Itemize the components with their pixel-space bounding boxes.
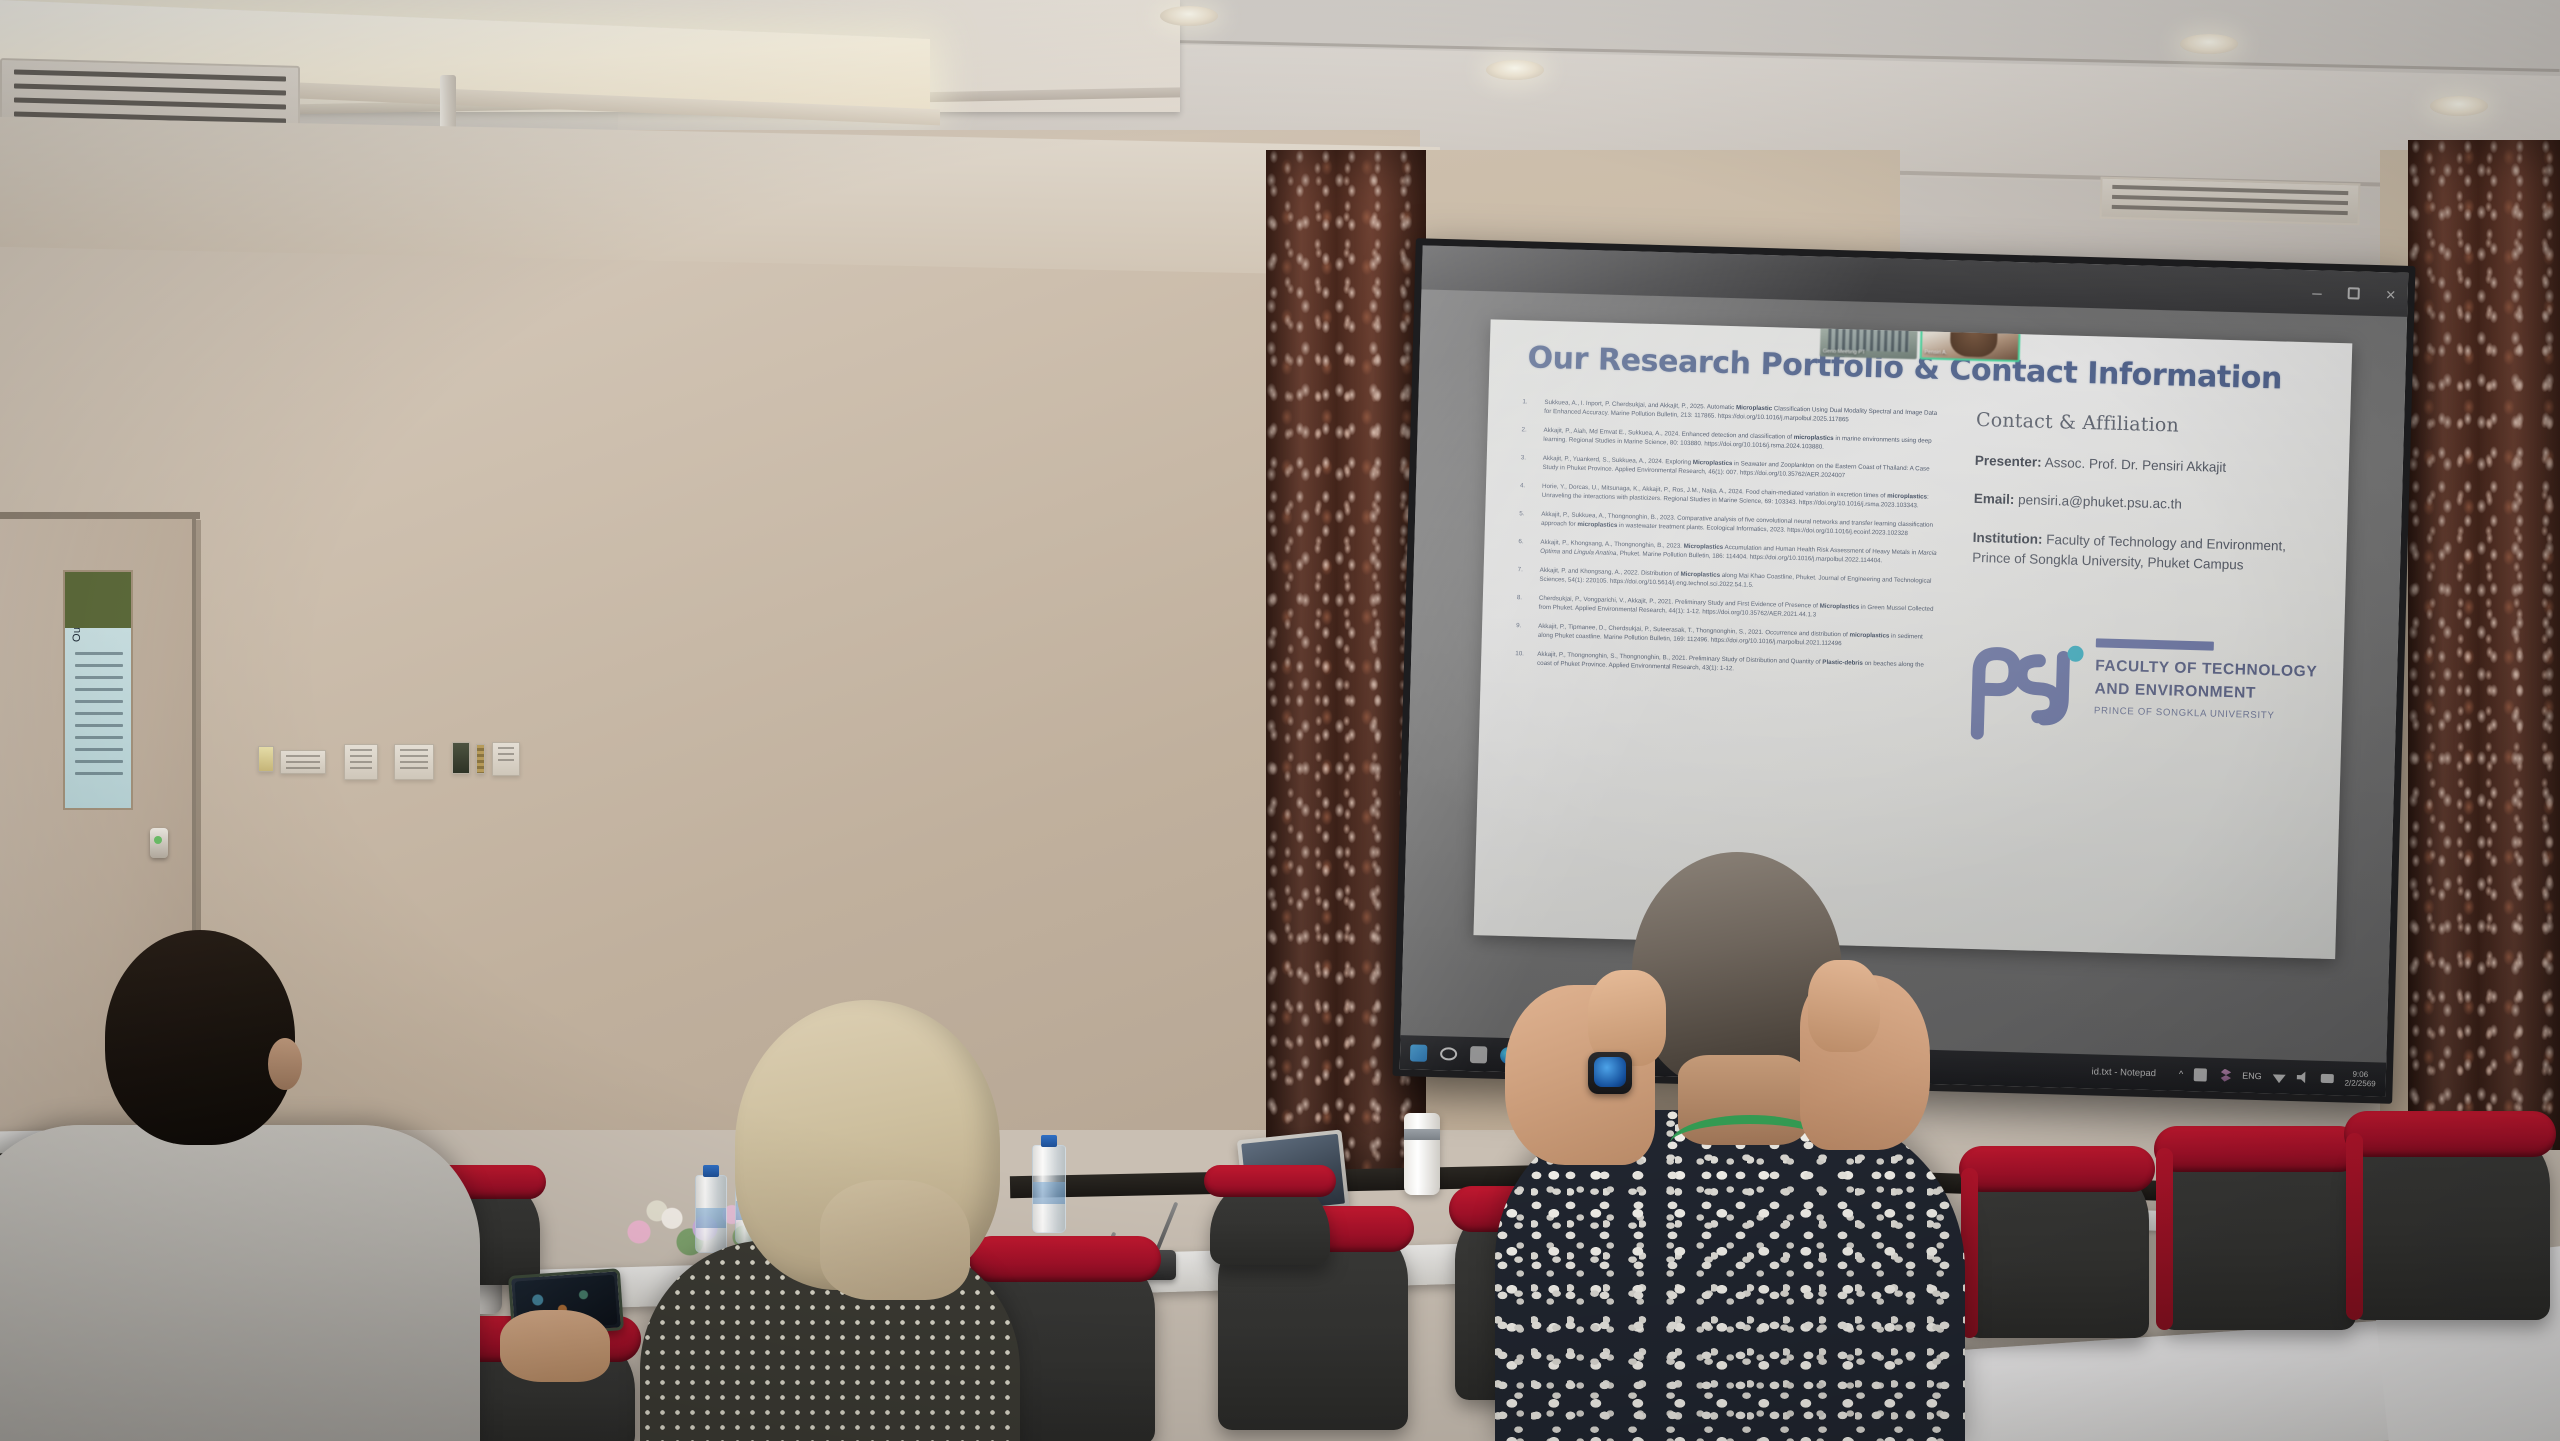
chair-headrest	[2344, 1111, 2556, 1157]
reference-number: 1.	[1522, 398, 1534, 416]
reference-text: Cherdsukjai, P., Vongparichi, V., Akkaji…	[1538, 595, 1936, 624]
chair-headrest	[1959, 1146, 2155, 1192]
clock-time: 9:06	[2352, 1069, 2368, 1078]
downlight-4	[2430, 96, 2488, 116]
institution-line: Institution: Faculty of Technology and E…	[1972, 527, 2323, 577]
maximize-icon[interactable]	[2348, 285, 2360, 302]
watch-face	[1594, 1057, 1626, 1087]
reference-text: Akkajit, P., Khongsang, A., Thongnonghin…	[1540, 539, 1938, 568]
volume-icon[interactable]	[2296, 1071, 2309, 1084]
reference-item: 3.Akkajit, P., Yuankerd, S., Sukkuea, A.…	[1520, 454, 1940, 484]
presenter-line: Presenter: Assoc. Prof. Dr. Pensiri Akka…	[1975, 451, 2325, 481]
conference-room-scene: Our Tea... – ×	[0, 0, 2560, 1441]
projection-screen: – × Geno Meeting PT Pensiri A.	[1392, 238, 2415, 1104]
ceiling-vent-right	[2099, 177, 2360, 226]
contact-heading: Contact & Affiliation	[1976, 409, 2326, 441]
battery-icon[interactable]	[2321, 1073, 2334, 1082]
vc-tile-speaker-label: Pensiri A.	[1924, 349, 1947, 356]
downlight-1	[1160, 6, 1218, 26]
close-icon[interactable]: ×	[2386, 286, 2396, 303]
reference-number: 10.	[1515, 650, 1527, 668]
door-top-trim	[0, 512, 200, 519]
bluetooth-icon[interactable]	[2218, 1068, 2231, 1081]
attendee-left-ear	[268, 1038, 302, 1090]
door-poster: Our Tea...	[63, 570, 133, 810]
psu-line3: PRINCE OF SONGKLA UNIVERSITY	[2094, 705, 2324, 722]
reference-item: 4.Horie, Y., Dorcas, U., Mitsunaga, K., …	[1520, 482, 1940, 512]
reference-text: Akkajit, P. and Khongsang, A., 2022. Dis…	[1539, 567, 1937, 596]
wristwatch	[1588, 1052, 1632, 1094]
attendee-hijab-hand	[500, 1310, 610, 1382]
reference-text: Akkajit, P., Sukkuea, A., Thongnonghin, …	[1541, 511, 1939, 540]
reference-text: Sukkuea, A., I. Inport, P. Cherdsukjai, …	[1544, 399, 1942, 428]
poster-body: Our Tea...	[65, 628, 131, 808]
wall-plaque-2	[280, 750, 326, 774]
chair-side-bolster	[2156, 1148, 2173, 1330]
reference-item: 9.Akkajit, P., Tipmanee, D., Cherdsukjai…	[1516, 622, 1936, 652]
clock[interactable]: 9:06 2/2/2569	[2344, 1069, 2376, 1088]
downlight-2	[1486, 60, 1544, 80]
door-handle[interactable]	[150, 828, 168, 858]
video-conference-overlay: Geno Meeting PT Pensiri A.	[1820, 319, 2022, 362]
language-indicator[interactable]: ENG	[2242, 1071, 2262, 1082]
chair-behind-laptop	[1210, 1175, 1330, 1265]
door-lock-indicator	[154, 836, 162, 844]
reference-text: Horie, Y., Dorcas, U., Mitsunaga, K., Ak…	[1542, 483, 1940, 512]
bottle-label	[1033, 1182, 1065, 1204]
reference-number: 2.	[1521, 426, 1533, 444]
reference-item: 2.Akkajit, P., Aiah, Md Emvat E., Sukkue…	[1521, 426, 1941, 456]
chair-headrest	[2154, 1126, 2362, 1172]
bottle-cap	[1041, 1135, 1057, 1147]
reference-item: 10.Akkajit, P., Thongnonghin, S., Thongn…	[1515, 650, 1935, 680]
bottle-cap	[703, 1165, 719, 1177]
reference-list: 1.Sukkuea, A., I. Inport, P. Cherdsukjai…	[1515, 398, 1943, 689]
wall-plaque-6	[476, 744, 485, 774]
reference-number: 9.	[1516, 622, 1528, 640]
task-view-icon[interactable]	[1470, 1046, 1487, 1063]
wall-plaque-1	[258, 746, 274, 772]
vc-tile-room[interactable]: Geno Meeting PT	[1820, 319, 1918, 359]
tray-overflow-icon[interactable]: ^	[2179, 1069, 2184, 1079]
onedrive-icon[interactable]	[2194, 1068, 2207, 1081]
attendee-batik-hand-right	[1808, 960, 1880, 1052]
poster-title: Our Tea...	[71, 628, 83, 642]
downlight-3	[2180, 34, 2238, 54]
reference-number: 3.	[1520, 454, 1532, 472]
chair-headrest	[969, 1236, 1161, 1282]
reference-text: Akkajit, P., Yuankerd, S., Sukkuea, A., …	[1542, 455, 1940, 484]
wall-plaque-3	[344, 744, 378, 780]
reference-number: 8.	[1516, 594, 1528, 612]
reference-number: 7.	[1517, 566, 1529, 584]
psu-logo-text: FACULTY OF TECHNOLOGY AND ENVIRONMENT PR…	[2094, 654, 2326, 722]
email-label: Email:	[1974, 491, 2015, 507]
projected-desktop: – × Geno Meeting PT Pensiri A.	[1400, 245, 2409, 1096]
attendee-left-head	[105, 930, 295, 1145]
bottle-label	[696, 1208, 726, 1228]
poster-text-lines	[75, 652, 123, 784]
psu-monogram-icon	[1965, 637, 2086, 746]
thermos-band	[1404, 1129, 1440, 1140]
start-icon[interactable]	[1410, 1044, 1427, 1061]
wall-plaque-7	[492, 742, 520, 776]
reference-item: 1.Sukkuea, A., I. Inport, P. Cherdsukjai…	[1522, 398, 1942, 428]
reference-text: Akkajit, P., Tipmanee, D., Cherdsukjai, …	[1538, 623, 1936, 652]
wall-plaque-group	[258, 738, 548, 786]
presenter-value: Assoc. Prof. Dr. Pensiri Akkajit	[2044, 455, 2226, 475]
water-bottle-1	[695, 1175, 727, 1253]
chair-side-bolster	[2346, 1133, 2363, 1320]
psu-logo-bar	[2096, 638, 2214, 650]
presentation-slide: Geno Meeting PT Pensiri A. Our Research …	[1473, 319, 2352, 959]
wifi-icon[interactable]	[2273, 1070, 2286, 1083]
search-icon[interactable]	[1440, 1047, 1457, 1060]
attendee-hijab-scarf-fold	[820, 1180, 970, 1300]
reference-item: 5.Akkajit, P., Sukkuea, A., Thongnonghin…	[1519, 510, 1939, 540]
curtain-right	[2408, 140, 2560, 1150]
email-value: pensiri.a@phuket.psu.ac.th	[2018, 492, 2182, 512]
poster-header-band	[65, 572, 131, 628]
reference-item: 6.Akkajit, P., Khongsang, A., Thongnongh…	[1518, 538, 1938, 568]
email-line: Email: pensiri.a@phuket.psu.ac.th	[1974, 489, 2324, 519]
chair-row-right-2	[2160, 1140, 2356, 1330]
system-tray: ^ ENG 9:06 2/2/2569	[2179, 1065, 2376, 1089]
thermos-flask	[1404, 1113, 1440, 1195]
wall-plaque-5	[452, 742, 470, 774]
reference-text: Akkajit, P., Thongnonghin, S., Thongnong…	[1537, 650, 1935, 679]
institution-label: Institution:	[1973, 529, 2043, 546]
contact-block: Contact & Affiliation Presenter: Assoc. …	[1971, 409, 2326, 596]
reference-number: 5.	[1519, 510, 1531, 528]
reference-number: 4.	[1520, 482, 1532, 500]
vc-tile-room-label: Geno Meeting PT	[1823, 349, 1865, 356]
chair-row-right-3	[2350, 1125, 2550, 1320]
clock-date: 2/2/2569	[2344, 1078, 2375, 1088]
active-window-label[interactable]: id.txt - Notepad	[2091, 1066, 2156, 1079]
reference-number: 6.	[1518, 538, 1530, 556]
reference-item: 7.Akkajit, P. and Khongsang, A., 2022. D…	[1517, 566, 1937, 596]
reference-item: 8.Cherdsukjai, P., Vongparichi, V., Akka…	[1516, 594, 1936, 624]
psu-logo: FACULTY OF TECHNOLOGY AND ENVIRONMENT PR…	[1964, 633, 2317, 773]
wall-plaque-4	[394, 744, 434, 780]
reference-text: Akkajit, P., Aiah, Md Emvat E., Sukkuea,…	[1543, 427, 1941, 456]
presenter-label: Presenter:	[1975, 453, 2042, 470]
chair-headrest	[1204, 1165, 1336, 1197]
chair-row-right-1	[1965, 1160, 2149, 1338]
vc-tile-speaker[interactable]: Pensiri A.	[1919, 319, 2021, 362]
attendee-left-body	[0, 1125, 480, 1441]
screen-surface: – × Geno Meeting PT Pensiri A.	[1400, 245, 2409, 1096]
minimize-icon[interactable]: –	[2312, 284, 2322, 301]
water-bottle-3	[1032, 1145, 1066, 1233]
